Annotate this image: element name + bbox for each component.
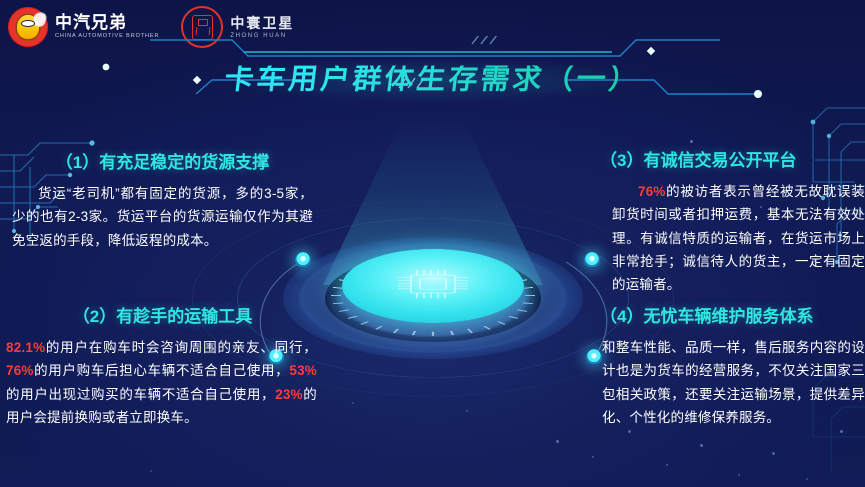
page-title: 卡车用户群体生存需求（一） xyxy=(0,66,865,95)
highlight-percentage: 23% xyxy=(275,387,303,402)
secondary-logo-cn: 中寰卫星 xyxy=(230,16,294,30)
section-2-body: 82.1%的用户在购车时会咨询周围的亲友、同行，76%的用户购车后担心车辆不适合… xyxy=(0,336,325,429)
section-1-body: 货运“老司机”都有固定的货源，多的3-5家，少的也有2-3家。货运平台的货源运输… xyxy=(0,182,325,252)
highlight-percentage: 82.1% xyxy=(6,340,45,355)
cpu-chip-icon xyxy=(378,262,488,307)
section-3-body: 76%的被访者表示曾经被无故耽误装卸货时间或者扣押运费，基本无法有效处理。有诚信… xyxy=(600,180,865,296)
primary-logo-cn: 中汽兄弟 xyxy=(55,14,159,31)
section-4: （4）无忧车辆维护服务体系 和整车性能、品质一样，售后服务内容的设计也是为货车的… xyxy=(600,306,865,429)
highlight-percentage: 53% xyxy=(289,363,317,378)
node-marker-1 xyxy=(295,252,311,268)
section-1: （1）有充足稳定的货源支撑 货运“老司机”都有固定的货源，多的3-5家，少的也有… xyxy=(0,152,325,252)
section-3: （3）有诚信交易公开平台 76%的被访者表示曾经被无故耽误装卸货时间或者扣押运费… xyxy=(600,150,865,296)
slide-canvas: 中汽兄弟 CHINA AUTOMOTIVE BROTHER 中寰卫星 ZHONG… xyxy=(0,0,865,487)
highlight-percentage: 76% xyxy=(6,363,34,378)
section-4-heading: （4）无忧车辆维护服务体系 xyxy=(600,306,865,327)
section-3-heading: （3）有诚信交易公开平台 xyxy=(600,150,865,171)
section-2-heading: （2）有趁手的运输工具 xyxy=(0,306,325,327)
highlight-percentage: 76% xyxy=(638,184,666,199)
section-4-body: 和整车性能、品质一样，售后服务内容的设计也是为货车的经营服务，不仅关注国家三包相… xyxy=(600,336,865,429)
node-marker-3 xyxy=(584,252,600,268)
title-banner: 卡车用户群体生存需求（一） xyxy=(0,36,865,108)
section-1-heading: （1）有充足稳定的货源支撑 xyxy=(0,152,325,173)
section-2: （2）有趁手的运输工具 82.1%的用户在购车时会咨询周围的亲友、同行，76%的… xyxy=(0,306,325,429)
